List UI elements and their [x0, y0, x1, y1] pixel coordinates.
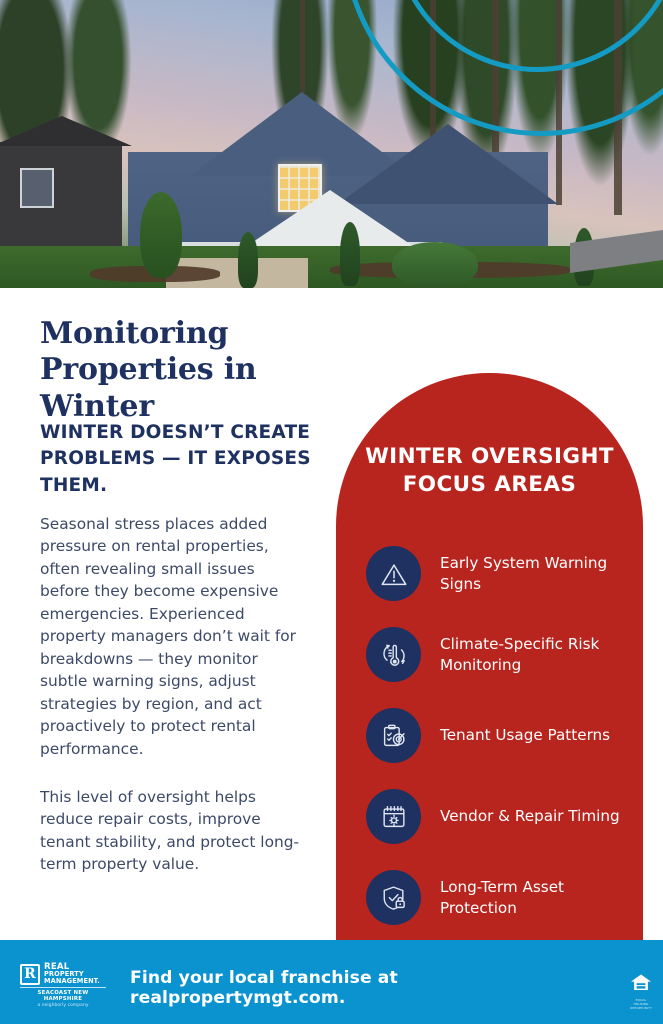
list-item-label: Tenant Usage Patterns: [440, 725, 610, 745]
list-item[interactable]: Tenant Usage Patterns: [366, 695, 636, 776]
calendar-gear-icon: [366, 789, 421, 844]
shrub: [392, 242, 478, 286]
cypress-shrub: [238, 232, 258, 288]
shrub: [140, 192, 182, 278]
thermometer-cycle-icon: [366, 627, 421, 682]
list-item[interactable]: Long-Term Asset Protection: [366, 857, 636, 938]
focus-areas-title: WINTER OVERSIGHT FOCUS AREAS: [336, 443, 643, 498]
company-logo[interactable]: R REAL PROPERTY MANAGEMENT. SEACOAST NEW…: [20, 963, 106, 1008]
logo-wordmark: REAL PROPERTY MANAGEMENT.: [44, 963, 100, 985]
clipboard-target-icon: [366, 708, 421, 763]
warning-triangle-icon: [366, 546, 421, 601]
logo-monogram: R: [20, 964, 40, 985]
cypress-shrub: [340, 222, 360, 286]
page-title: Monitoring Properties in Winter: [40, 316, 340, 425]
neighbor-window: [20, 168, 54, 208]
list-item-label: Early System Warning Signs: [440, 553, 636, 593]
list-item[interactable]: Early System Warning Signs: [366, 533, 636, 614]
logo-line-3: MANAGEMENT.: [44, 978, 100, 985]
logo-region: SEACOAST NEW HAMPSHIRE: [20, 987, 106, 1002]
shield-check-lock-icon: [366, 870, 421, 925]
footer-cta-text[interactable]: Find your local franchise at realpropert…: [130, 968, 550, 1008]
hero-image: [0, 0, 663, 288]
body-paragraph-2: This level of oversight helps reduce rep…: [40, 786, 302, 876]
list-item[interactable]: Vendor & Repair Timing: [366, 776, 636, 857]
list-item-label: Climate-Specific Risk Monitoring: [440, 634, 636, 674]
list-item[interactable]: Climate-Specific Risk Monitoring: [366, 614, 636, 695]
equal-housing-caption: EQUAL HOUSING OPPORTUNITY: [629, 998, 653, 1010]
focus-areas-panel: WINTER OVERSIGHT FOCUS AREAS Early Syste…: [336, 373, 643, 940]
focus-areas-list: Early System Warning Signs: [366, 533, 636, 938]
list-item-label: Long-Term Asset Protection: [440, 877, 636, 917]
content-area: Monitoring Properties in Winter WINTER D…: [0, 288, 663, 940]
logo-tagline: a neighborly company: [20, 1003, 106, 1008]
body-paragraph-1: Seasonal stress places added pressure on…: [40, 513, 302, 760]
list-item-label: Vendor & Repair Timing: [440, 806, 620, 826]
logo-lockup: R REAL PROPERTY MANAGEMENT.: [20, 963, 106, 985]
equal-housing-icon: EQUAL HOUSING OPPORTUNITY: [629, 972, 653, 1010]
porch-gable: [244, 190, 416, 248]
subheading: WINTER DOESN’T CREATE PROBLEMS — IT EXPO…: [40, 420, 320, 499]
